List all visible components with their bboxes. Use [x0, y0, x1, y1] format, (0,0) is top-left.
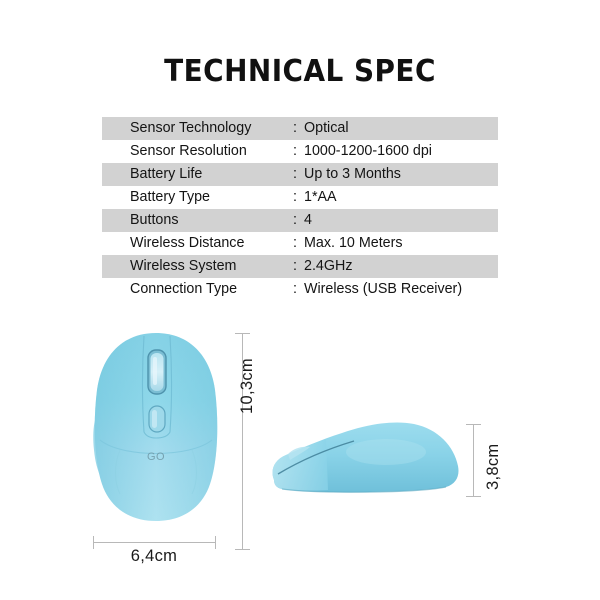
colon-separator: : [293, 117, 304, 140]
page-title: TECHNICAL SPEC [21, 54, 579, 89]
spec-value-text: Optical [304, 120, 349, 136]
dimension-width-label: 6,4cm [93, 547, 215, 566]
colon-separator: : [293, 140, 304, 163]
mouse-top-view: GO [92, 332, 221, 522]
dimension-depth-cap-top [466, 424, 481, 425]
technical-spec-table: Sensor Technology :Optical Sensor Resolu… [102, 117, 498, 301]
spec-label: Wireless System [102, 255, 293, 278]
colon-separator: : [293, 209, 304, 232]
dimension-height-label: 10,3cm [238, 358, 257, 414]
colon-separator: : [293, 278, 304, 301]
scroll-wheel-highlight [153, 357, 157, 385]
dimension-depth-cap-bottom [466, 496, 481, 497]
table-row: Sensor Technology :Optical [102, 117, 498, 140]
spec-value-text: Up to 3 Months [304, 166, 401, 182]
spec-label: Buttons [102, 209, 293, 232]
spec-value: :1000-1200-1600 dpi [293, 140, 498, 163]
table-row: Wireless Distance :Max. 10 Meters [102, 232, 498, 255]
dimension-width-cap-right [215, 536, 216, 549]
spec-value-text: 1*AA [304, 189, 337, 205]
body-shade-left [95, 333, 156, 521]
spec-value: :Optical [293, 117, 498, 140]
spec-value: :Up to 3 Months [293, 163, 498, 186]
spec-value: :1*AA [293, 186, 498, 209]
dimension-depth-label: 3,8cm [484, 444, 503, 490]
spec-value: :Wireless (USB Receiver) [293, 278, 498, 301]
spec-label: Sensor Technology [102, 117, 293, 140]
dimension-height-cap-bottom [235, 549, 250, 550]
spec-label: Sensor Resolution [102, 140, 293, 163]
spec-value-text: 1000-1200-1600 dpi [304, 143, 432, 159]
table-row: Battery Type :1*AA [102, 186, 498, 209]
brand-logo: GO [147, 451, 165, 463]
dimension-height-cap-top [235, 333, 250, 334]
spec-label: Battery Life [102, 163, 293, 186]
table-row: Battery Life :Up to 3 Months [102, 163, 498, 186]
spec-value-text: 4 [304, 212, 312, 228]
product-figure-area: GO 10,3 [0, 318, 600, 600]
spec-label: Connection Type [102, 278, 293, 301]
colon-separator: : [293, 163, 304, 186]
dimension-depth-line [473, 424, 474, 496]
colon-separator: : [293, 232, 304, 255]
dimension-width-line [93, 542, 215, 543]
dpi-button-highlight [152, 410, 157, 428]
table-row: Sensor Resolution :1000-1200-1600 dpi [102, 140, 498, 163]
palm-highlight [346, 439, 426, 465]
spec-value: :4 [293, 209, 498, 232]
spec-label: Battery Type [102, 186, 293, 209]
mouse-front-highlight [273, 439, 329, 491]
spec-value-text: Wireless (USB Receiver) [304, 281, 462, 297]
table-row: Buttons :4 [102, 209, 498, 232]
table-row: Wireless System :2.4GHz [102, 255, 498, 278]
spec-value: :Max. 10 Meters [293, 232, 498, 255]
table-row: Connection Type :Wireless (USB Receiver) [102, 278, 498, 301]
spec-value-text: Max. 10 Meters [304, 235, 403, 251]
spec-label: Wireless Distance [102, 232, 293, 255]
spec-value-text: 2.4GHz [304, 258, 352, 274]
colon-separator: : [293, 186, 304, 209]
mouse-side-view [268, 418, 462, 498]
spec-value: :2.4GHz [293, 255, 498, 278]
colon-separator: : [293, 255, 304, 278]
